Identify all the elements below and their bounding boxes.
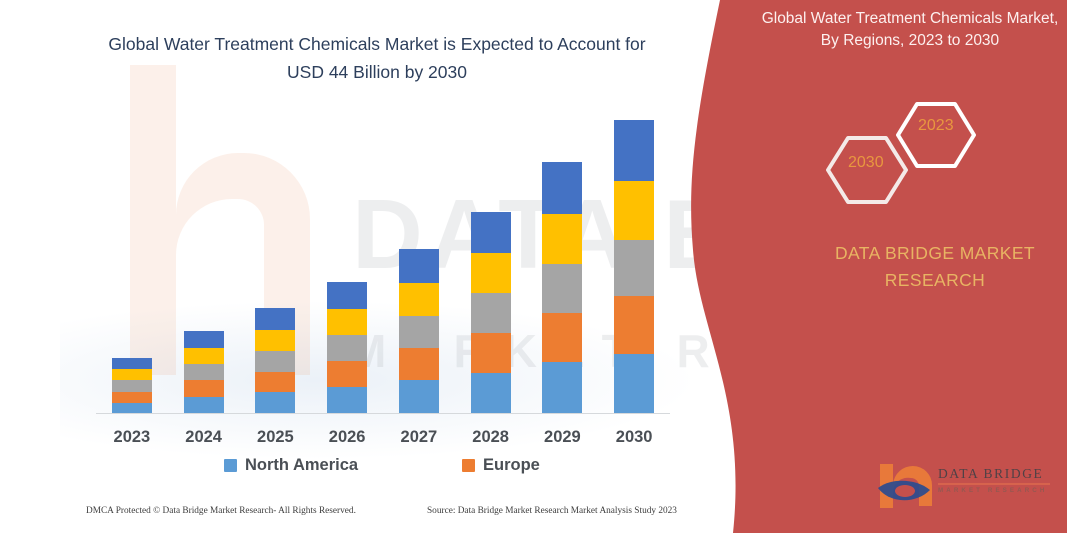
footer-source: Source: Data Bridge Market Research Mark…	[427, 506, 677, 516]
legend-swatch-icon	[462, 459, 475, 472]
x-axis-label-2026: 2026	[311, 428, 383, 447]
bar-segment-2029-south-america	[542, 214, 582, 265]
infographic-canvas: DATA BRIDGE MARKET RESEARCH Global Water…	[0, 0, 1067, 533]
bar-2027	[399, 249, 439, 414]
chart-legend: North AmericaEurope	[96, 456, 670, 480]
x-axis-label-2025: 2025	[239, 428, 311, 447]
x-axis-label-2023: 2023	[96, 428, 168, 447]
bar-segment-2025-europe	[255, 372, 295, 393]
bar-segment-2029-north-america	[542, 362, 582, 413]
bar-2025	[255, 308, 295, 414]
bar-segment-2023-south-america	[112, 369, 152, 380]
bar-2030	[614, 120, 654, 414]
bar-segment-2030-europe	[614, 296, 654, 354]
x-axis-label-2029: 2029	[526, 428, 598, 447]
bar-segment-2025-south-america	[255, 330, 295, 352]
bar-segment-2027-north-america	[399, 380, 439, 414]
chart-plot-area	[96, 120, 670, 414]
hexagon-2023-label: 2023	[918, 117, 954, 135]
brand-name: DATA BRIDGE MARKET RESEARCH	[790, 240, 1067, 294]
bar-segment-2023-asia-pacific	[112, 380, 152, 391]
hexagon-2030-label: 2030	[848, 154, 884, 172]
bar-segment-2026-middle-east-and-africa	[327, 282, 367, 309]
logo-title: DATA BRIDGE	[938, 466, 1050, 482]
bar-segment-2027-middle-east-and-africa	[399, 249, 439, 283]
bar-segment-2025-asia-pacific	[255, 351, 295, 372]
bar-segment-2027-asia-pacific	[399, 316, 439, 348]
logo-divider	[938, 483, 1050, 485]
x-axis-labels: 20232024202520262027202820292030	[96, 428, 670, 454]
legend-swatch-icon	[224, 459, 237, 472]
bar-segment-2024-europe	[184, 380, 224, 397]
bar-segment-2030-south-america	[614, 181, 654, 240]
bar-segment-2023-europe	[112, 392, 152, 403]
hexagon-2023-shape	[898, 104, 974, 166]
bar-segment-2026-south-america	[327, 309, 367, 335]
bar-segment-2024-middle-east-and-africa	[184, 331, 224, 348]
bar-2023	[112, 358, 152, 414]
bar-segment-2024-asia-pacific	[184, 364, 224, 380]
footer-copyright: DMCA Protected © Data Bridge Market Rese…	[86, 506, 356, 516]
legend-label: North America	[245, 456, 358, 475]
panel-title: Global Water Treatment Chemicals Market,…	[760, 8, 1060, 52]
bar-segment-2028-south-america	[471, 253, 511, 293]
x-axis-label-2030: 2030	[598, 428, 670, 447]
bar-segment-2029-asia-pacific	[542, 264, 582, 313]
bar-segment-2030-north-america	[614, 354, 654, 414]
bar-segment-2027-south-america	[399, 283, 439, 316]
legend-item-europe[interactable]: Europe	[462, 456, 540, 475]
bar-segment-2025-north-america	[255, 392, 295, 414]
bar-segment-2030-middle-east-and-africa	[614, 120, 654, 181]
hexagon-badges: 2023 2030	[810, 92, 995, 212]
legend-item-north-america[interactable]: North America	[224, 456, 358, 475]
bar-segment-2026-europe	[327, 361, 367, 387]
bar-segment-2029-middle-east-and-africa	[542, 162, 582, 213]
bar-segment-2028-north-america	[471, 373, 511, 414]
x-axis-line	[96, 413, 670, 414]
bar-segment-2028-asia-pacific	[471, 293, 511, 332]
bar-segment-2026-north-america	[327, 387, 367, 414]
bar-segment-2024-north-america	[184, 397, 224, 414]
bar-segment-2028-europe	[471, 333, 511, 373]
bar-segment-2027-europe	[399, 348, 439, 381]
bar-segment-2026-asia-pacific	[327, 335, 367, 360]
bar-2026	[327, 282, 367, 414]
bar-segment-2028-middle-east-and-africa	[471, 212, 511, 253]
bar-segment-2025-middle-east-and-africa	[255, 308, 295, 330]
bar-2028	[471, 212, 511, 414]
bar-2024	[184, 331, 224, 414]
bar-segment-2024-south-america	[184, 348, 224, 365]
footer: DMCA Protected © Data Bridge Market Rese…	[0, 506, 700, 528]
x-axis-label-2028: 2028	[455, 428, 527, 447]
legend-label: Europe	[483, 456, 540, 475]
bar-segment-2029-europe	[542, 313, 582, 363]
chart-title: Global Water Treatment Chemicals Market …	[92, 30, 662, 86]
logo-subtitle: MARKET RESEARCH	[938, 487, 1050, 494]
x-axis-label-2024: 2024	[168, 428, 240, 447]
bar-2029	[542, 162, 582, 414]
bar-segment-2023-middle-east-and-africa	[112, 358, 152, 369]
x-axis-label-2027: 2027	[383, 428, 455, 447]
bar-segment-2030-asia-pacific	[614, 240, 654, 296]
logo-wordmark: DATA BRIDGE MARKET RESEARCH	[938, 466, 1050, 494]
